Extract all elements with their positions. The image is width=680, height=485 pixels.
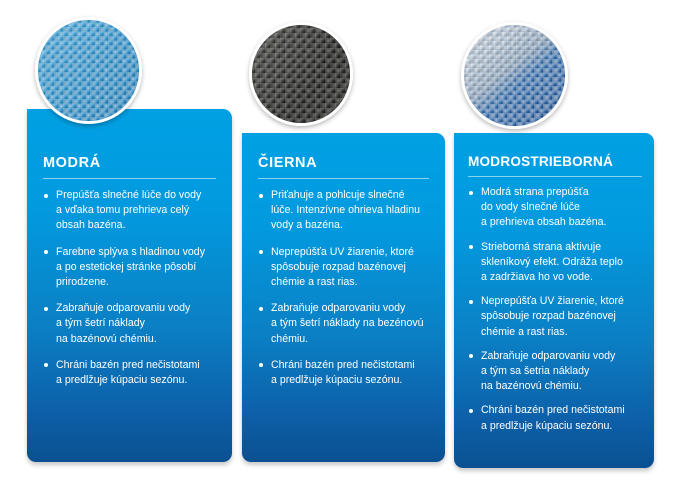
panel-modrostrieborna-divider	[468, 176, 642, 177]
list-item: Strieborná strana aktivuje skleníkový ef…	[468, 240, 642, 286]
list-item: Modrá strana prepúšťa do vody slnečné lú…	[468, 185, 642, 231]
list-item: Chráni bazén pred nečistotami a predlžuj…	[468, 403, 642, 433]
panel-modra-title: MODRÁ	[43, 155, 216, 171]
panel-cierna-bullet-list: Priťahuje a pohlcuje slnečné lúče. Inten…	[258, 188, 429, 388]
list-item: Neprepúšťa UV žiarenie, ktoré spôsobuje …	[468, 294, 642, 340]
list-item: Neprepúšťa UV žiarenie, ktoré spôsobuje …	[258, 245, 429, 291]
list-item: Prepúšťa slnečné lúče do vody a vďaka to…	[43, 188, 216, 234]
black-bubble-wrap-circle-icon	[249, 22, 353, 126]
black-bubble-texture	[250, 23, 352, 125]
panel-modrostrieborna-content: MODROSTRIEBORNÁ Modrá strana prepúšťa do…	[454, 133, 654, 468]
list-item: Chráni bazén pred nečistotami a predlžuj…	[258, 358, 429, 388]
list-item: Zabraňuje odparovaniu vody a tým šetrí n…	[43, 301, 216, 347]
panel-cierna: ČIERNA Priťahuje a pohlcuje slnečné lúče…	[242, 133, 445, 462]
list-item: Priťahuje a pohlcuje slnečné lúče. Inten…	[258, 188, 429, 234]
list-item: Farebne splýva s hladinou vody a po este…	[43, 245, 216, 291]
list-item: Zabraňuje odparovaniu vody a tým sa šetr…	[468, 349, 642, 395]
blue-bubble-texture	[36, 18, 141, 123]
list-item: Chráni bazén pred nečistotami a predlžuj…	[43, 358, 216, 388]
panel-modrostrieborna: MODROSTRIEBORNÁ Modrá strana prepúšťa do…	[454, 133, 654, 468]
pool-cover-comparison-infographic: MODRÁ Prepúšťa slnečné lúče do vody a vď…	[0, 0, 680, 485]
panel-modra-bullet-list: Prepúšťa slnečné lúče do vody a vďaka to…	[43, 188, 216, 388]
silver-blue-bubble-texture	[462, 23, 567, 128]
panel-cierna-content: ČIERNA Priťahuje a pohlcuje slnečné lúče…	[242, 133, 445, 462]
panel-modrostrieborna-title: MODROSTRIEBORNÁ	[468, 154, 642, 169]
panel-modrostrieborna-bullet-list: Modrá strana prepúšťa do vody slnečné lú…	[468, 185, 642, 434]
blue-bubble-wrap-circle-icon	[35, 17, 142, 124]
panel-modra: MODRÁ Prepúšťa slnečné lúče do vody a vď…	[27, 109, 232, 462]
panel-cierna-title: ČIERNA	[258, 155, 429, 171]
list-item: Zabraňuje odparovaniu vody a tým šetrí n…	[258, 301, 429, 347]
panel-modra-content: MODRÁ Prepúšťa slnečné lúče do vody a vď…	[27, 109, 232, 462]
panel-modra-divider	[43, 178, 216, 179]
panel-cierna-divider	[258, 178, 429, 179]
silver-blue-bubble-wrap-circle-icon	[461, 22, 568, 129]
